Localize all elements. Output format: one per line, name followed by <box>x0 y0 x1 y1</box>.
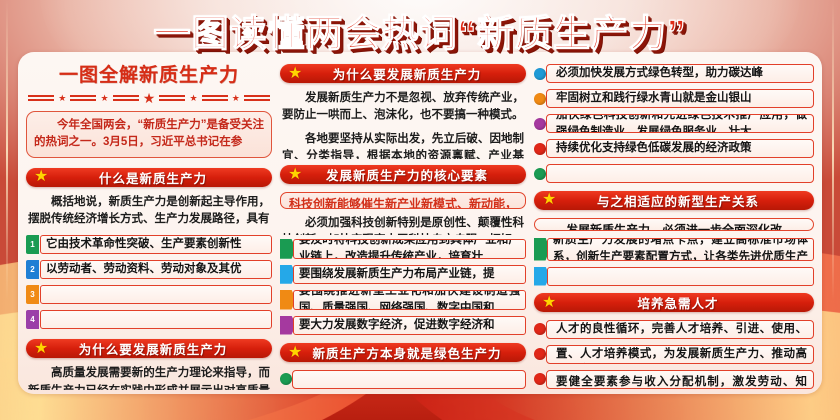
item-number-badge: 1 <box>26 235 39 254</box>
star-icon: ★ <box>34 341 48 357</box>
star-icon: ★ <box>288 345 302 361</box>
item-text: 牢固树立和践行绿水青山就是金山银山 <box>546 89 814 108</box>
list-item: 要健全要素参与收入分配机制，激发劳动、知识、技术、管理、资本和数据等生产要素活力… <box>534 370 814 389</box>
item-text: 要按照发展新质生产力要求，畅通教育、科技、人才的良性循环，完善人才培养、引进、使… <box>546 320 814 339</box>
star-icon: ★ <box>542 295 556 311</box>
item-number-badge: 2 <box>26 260 39 279</box>
list-item: 要及时将科技创新成果应用到具体产业和产业链上，改造提升传统产业，培育壮 <box>280 239 526 259</box>
list-item <box>534 267 814 286</box>
banner-why-develop-left: ★ 为什么要发展新质生产力 <box>26 339 272 358</box>
banner-core-elements-label: 发展新质生产力的核心要素 <box>280 165 526 184</box>
divider-line-4 <box>159 95 185 101</box>
item-text: 要围绕发展新质生产力布局产业链，提 <box>293 265 526 284</box>
item-text <box>292 370 526 389</box>
right-column: 必须加快发展方式绿色转型，助力碳达峰 牢固树立和践行绿水青山就是金山银山 加快绿… <box>532 58 816 390</box>
divider-star-2: ★ <box>100 94 108 103</box>
list-item: 要围绕发展新质生产力布局产业链，提 <box>280 265 526 284</box>
list-item: 加快绿色科技创新和先进绿色技术推广应用，做强绿色制造业，发展绿色服务业，壮大 <box>534 114 814 133</box>
star-divider: ★ ★ ★ ★ ★ <box>28 92 270 104</box>
star-icon: ★ <box>288 167 302 183</box>
list-item: 3 <box>26 285 272 304</box>
banner-green-productivity: ★ 新质生产方本身就是绿色生产力 <box>280 343 526 362</box>
star-icon: ★ <box>288 66 302 82</box>
list-item: 要深化经济体制、科技体制等改革，着力打通束缚新质生产力发展的堵点卡点，建立高标准… <box>534 238 814 261</box>
item-text: 必须加快发展方式绿色转型，助力碳达峰 <box>546 64 814 83</box>
item-text: 要围绕推进新型工业化和加快建设制造强国、质量强国、网络强国、数字中国和 <box>293 290 526 310</box>
list-item: 牢固树立和践行绿水青山就是金山银山 <box>534 89 814 108</box>
mid-column: ★ 为什么要发展新质生产力 发展新质生产力不是忽视、放弃传统产业，要防止一哄而上… <box>278 58 528 390</box>
intro-callout: 今年全国两会，“新质生产力”是备受关注的热词之一。3月5日，习近平总书记在参 <box>26 111 272 158</box>
list-item: 必须加快发展方式绿色转型，助力碳达峰 <box>534 64 814 83</box>
list-item: 要按照发展新质生产力要求，畅通教育、科技、人才的良性循环，完善人才培养、引进、使… <box>534 320 814 339</box>
banner-talent-label: 培养急需人才 <box>534 293 814 312</box>
core-highlight-box: 科技创新能够催生新产业新模式、新动能， <box>280 192 526 209</box>
item-text: 要及时将科技创新成果应用到具体产业和产业链上，改造提升传统产业，培育壮 <box>293 239 526 259</box>
what-is-paragraph: 概括地说，新质生产力是创新起主导作用，摆脱传统经济增长方式、生产力发展路径，具有 <box>24 193 274 231</box>
left-column: 一图全解新质生产力 ★ ★ ★ ★ ★ 今年全国两会，“新质生产力”是备受关注的… <box>24 58 274 390</box>
item-text: 要深化经济体制、科技体制等改革，着力打通束缚新质生产力发展的堵点卡点，建立高标准… <box>547 238 814 261</box>
item-text: 要健全要素参与收入分配机制，激发劳动、知识、技术、管理、资本和数据等生产要素活力… <box>546 370 814 389</box>
infographic-poster: 一图读懂两会热词“新质生产力” 一图全解新质生产力 ★ ★ ★ ★ ★ 今年全国… <box>0 0 840 420</box>
banner-core-elements: ★ 发展新质生产力的核心要素 <box>280 165 526 184</box>
poster-subtitle: 一图全解新质生产力 <box>24 60 274 87</box>
banner-why-develop-left-label: 为什么要发展新质生产力 <box>26 339 272 358</box>
divider-line-2 <box>70 95 96 101</box>
relations-highlight-box: 发展新质生产力，必须进一步全面深化改 <box>534 218 814 232</box>
item-text <box>546 164 814 183</box>
item-number-badge: 4 <box>26 310 39 329</box>
item-text: 加快绿色科技创新和先进绿色技术推广应用，做强绿色制造业，发展绿色服务业，壮大 <box>546 114 814 133</box>
star-icon: ★ <box>542 192 556 208</box>
star-icon: ★ <box>34 169 48 185</box>
poster-title-area: 一图读懂两会热词“新质生产力” <box>0 4 840 56</box>
item-text: 要大力发展数字经济，促进数字经济和 <box>293 316 526 335</box>
divider-star-center: ★ <box>143 91 156 105</box>
why-develop-paragraph-1: 发展新质生产力不是忽视、放弃传统产业，要防止一哄而上、泡沫化，也不要搞一种模式。 <box>278 89 528 127</box>
list-item: 2 以劳动者、劳动资料、劳动对象及其优 <box>26 260 272 279</box>
banner-why-develop-mid-label: 为什么要发展新质生产力 <box>280 64 526 83</box>
divider-line-right <box>244 95 270 101</box>
banner-why-develop-mid: ★ 为什么要发展新质生产力 <box>280 64 526 83</box>
item-text: 它由技术革命性突破、生产要素创新性 <box>40 235 272 254</box>
list-item: 要围绕推进新型工业化和加快建设制造强国、质量强国、网络强国、数字中国和 <box>280 290 526 310</box>
list-item: 4 <box>26 310 272 329</box>
list-item: 1 它由技术革命性突破、生产要素创新性 <box>26 235 272 254</box>
banner-new-relations-label: 与之相适应的新型生产关系 <box>534 191 814 210</box>
banner-new-relations: ★ 与之相适应的新型生产关系 <box>534 191 814 210</box>
banner-what-is-label: 什么是新质生产力 <box>26 168 272 187</box>
item-number-badge: 3 <box>26 285 39 304</box>
core-paragraph: 必须加强科技创新特别是原创性、颠覆性科技创新，加快实现高水平科技自立自强，打好 <box>278 214 528 235</box>
poster-title: 一图读懂两会热词“新质生产力” <box>154 3 687 57</box>
item-text <box>40 310 272 329</box>
banner-what-is: ★ 什么是新质生产力 <box>26 168 272 187</box>
item-text: 要根据科技发展新趋势，优化高等学校学科设置、人才培养模式，为发展新质生产力、推动… <box>546 345 814 364</box>
list-item: 持续优化支持绿色低碳发展的经济政策 <box>534 139 814 158</box>
banner-green-productivity-label: 新质生产方本身就是绿色生产力 <box>280 343 526 362</box>
list-item <box>280 370 526 389</box>
list-item <box>534 164 814 183</box>
divider-line-left <box>28 95 54 101</box>
item-text: 以劳动者、劳动资料、劳动对象及其优 <box>40 260 272 279</box>
divider-star-4: ★ <box>189 94 197 103</box>
list-item: 要根据科技发展新趋势，优化高等学校学科设置、人才培养模式，为发展新质生产力、推动… <box>534 345 814 364</box>
item-text <box>547 267 814 286</box>
why-develop-paragraph-left: 高质量发展需要新的生产力理论来指导，而新质生产力已经在实践中形成并展示出对高质量… <box>24 364 274 390</box>
why-develop-paragraph-2: 各地要坚持从实际出发，先立后破、因地制宜、分类指导，根据本地的资源禀赋、产业基础… <box>278 130 528 159</box>
banner-talent: ★ 培养急需人才 <box>534 293 814 312</box>
divider-star-5: ★ <box>232 94 240 103</box>
list-item: 要大力发展数字经济，促进数字经济和 <box>280 316 526 335</box>
item-text <box>40 285 272 304</box>
divider-star-1: ★ <box>58 94 66 103</box>
divider-line-3 <box>113 95 139 101</box>
divider-line-5 <box>202 95 228 101</box>
content-panel: 一图全解新质生产力 ★ ★ ★ ★ ★ 今年全国两会，“新质生产力”是备受关注的… <box>18 52 822 394</box>
item-text: 持续优化支持绿色低碳发展的经济政策 <box>546 139 814 158</box>
